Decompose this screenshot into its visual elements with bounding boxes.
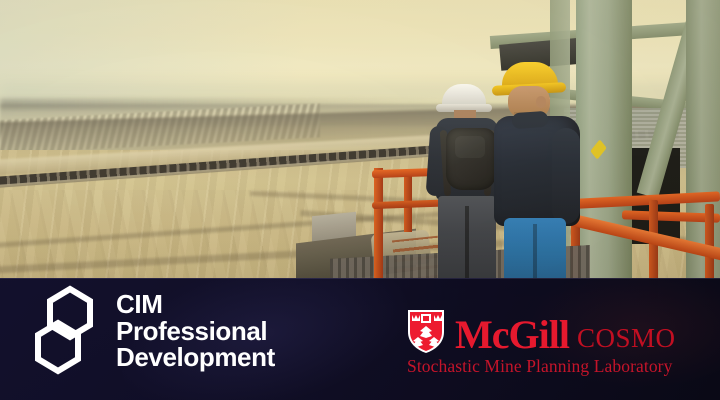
cim-line-3: Development bbox=[116, 344, 275, 371]
bar-top-edge bbox=[0, 278, 720, 279]
mcgill-shield-crest bbox=[405, 308, 447, 354]
mcgill-wordmark-row: McGill COSMO bbox=[405, 308, 705, 354]
promo-banner: CIM Professional Development Mc bbox=[0, 0, 720, 400]
cosmo-subtitle: Stochastic Mine Planning Laboratory bbox=[407, 356, 705, 377]
cim-line-1: CIM bbox=[116, 291, 275, 318]
cim-line-2: Professional bbox=[116, 318, 275, 345]
mcgill-wordmark: McGill bbox=[455, 317, 569, 354]
cim-wordmark: CIM Professional Development bbox=[116, 291, 275, 371]
mcgill-cosmo-logo[interactable]: McGill COSMO Stochastic Mine Planning La… bbox=[405, 308, 705, 377]
cim-logo[interactable]: CIM Professional Development bbox=[30, 285, 275, 377]
cosmo-wordmark: COSMO bbox=[577, 325, 676, 354]
cim-hexagon-mark bbox=[30, 285, 102, 377]
